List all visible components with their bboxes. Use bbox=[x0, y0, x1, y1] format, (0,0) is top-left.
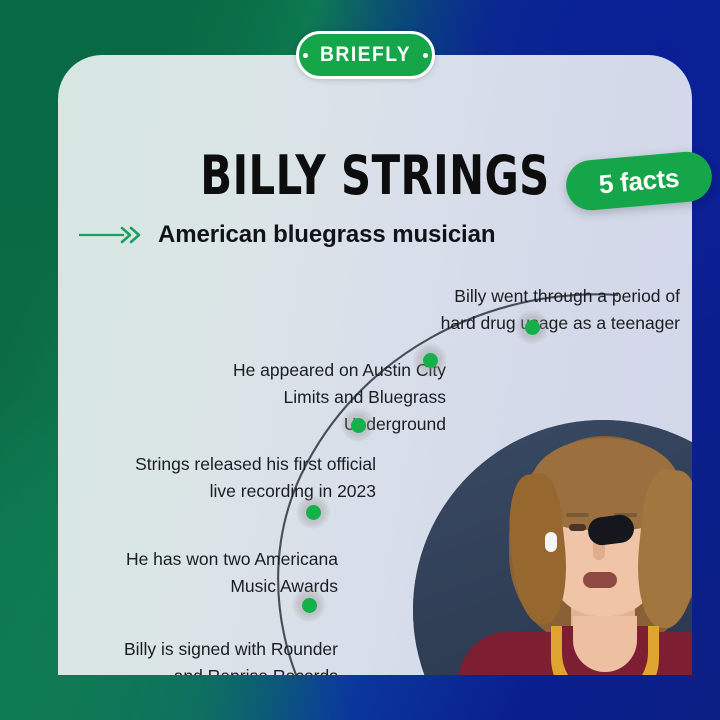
page-title: BILLY STRINGS bbox=[102, 149, 647, 203]
timeline-dot-2 bbox=[413, 343, 447, 377]
subtitle-text: American bluegrass musician bbox=[158, 221, 495, 249]
timeline-dot-core bbox=[351, 418, 366, 433]
subtitle-row: American bluegrass musician bbox=[78, 221, 495, 249]
fact-item-3: Strings released his first official live… bbox=[98, 451, 376, 505]
content-card: BILLY STRINGS American bluegrass musicia… bbox=[58, 55, 692, 675]
bullet-dot-right-icon bbox=[423, 53, 428, 58]
infographic-root: BILLY STRINGS American bluegrass musicia… bbox=[0, 0, 720, 720]
timeline-dot-5 bbox=[292, 588, 326, 622]
brand-logo-pill[interactable]: BRIEFLY bbox=[296, 31, 435, 79]
in-ear-monitor bbox=[545, 532, 557, 552]
timeline-dot-core bbox=[525, 320, 540, 335]
timeline-dot-core bbox=[302, 598, 317, 613]
timeline-dot-1 bbox=[515, 310, 549, 344]
timeline-dot-4 bbox=[296, 495, 330, 529]
timeline-dot-3 bbox=[341, 408, 375, 442]
fact-item-5: Billy is signed with Rounder and Reprise… bbox=[86, 636, 338, 675]
eye-left bbox=[569, 524, 586, 531]
artist-photo bbox=[413, 420, 692, 675]
facts-count-label: 5 facts bbox=[598, 162, 681, 200]
fact-item-2: He appeared on Austin City Limits and Bl… bbox=[158, 357, 446, 438]
eyebrow-left bbox=[566, 513, 589, 517]
brand-logo-text: BRIEFLY bbox=[320, 43, 411, 67]
timeline-dot-core bbox=[306, 505, 321, 520]
bullet-dot-left-icon bbox=[303, 53, 308, 58]
double-chevron-right-icon bbox=[78, 225, 144, 245]
mouth bbox=[583, 572, 617, 588]
timeline-dot-core bbox=[423, 353, 438, 368]
